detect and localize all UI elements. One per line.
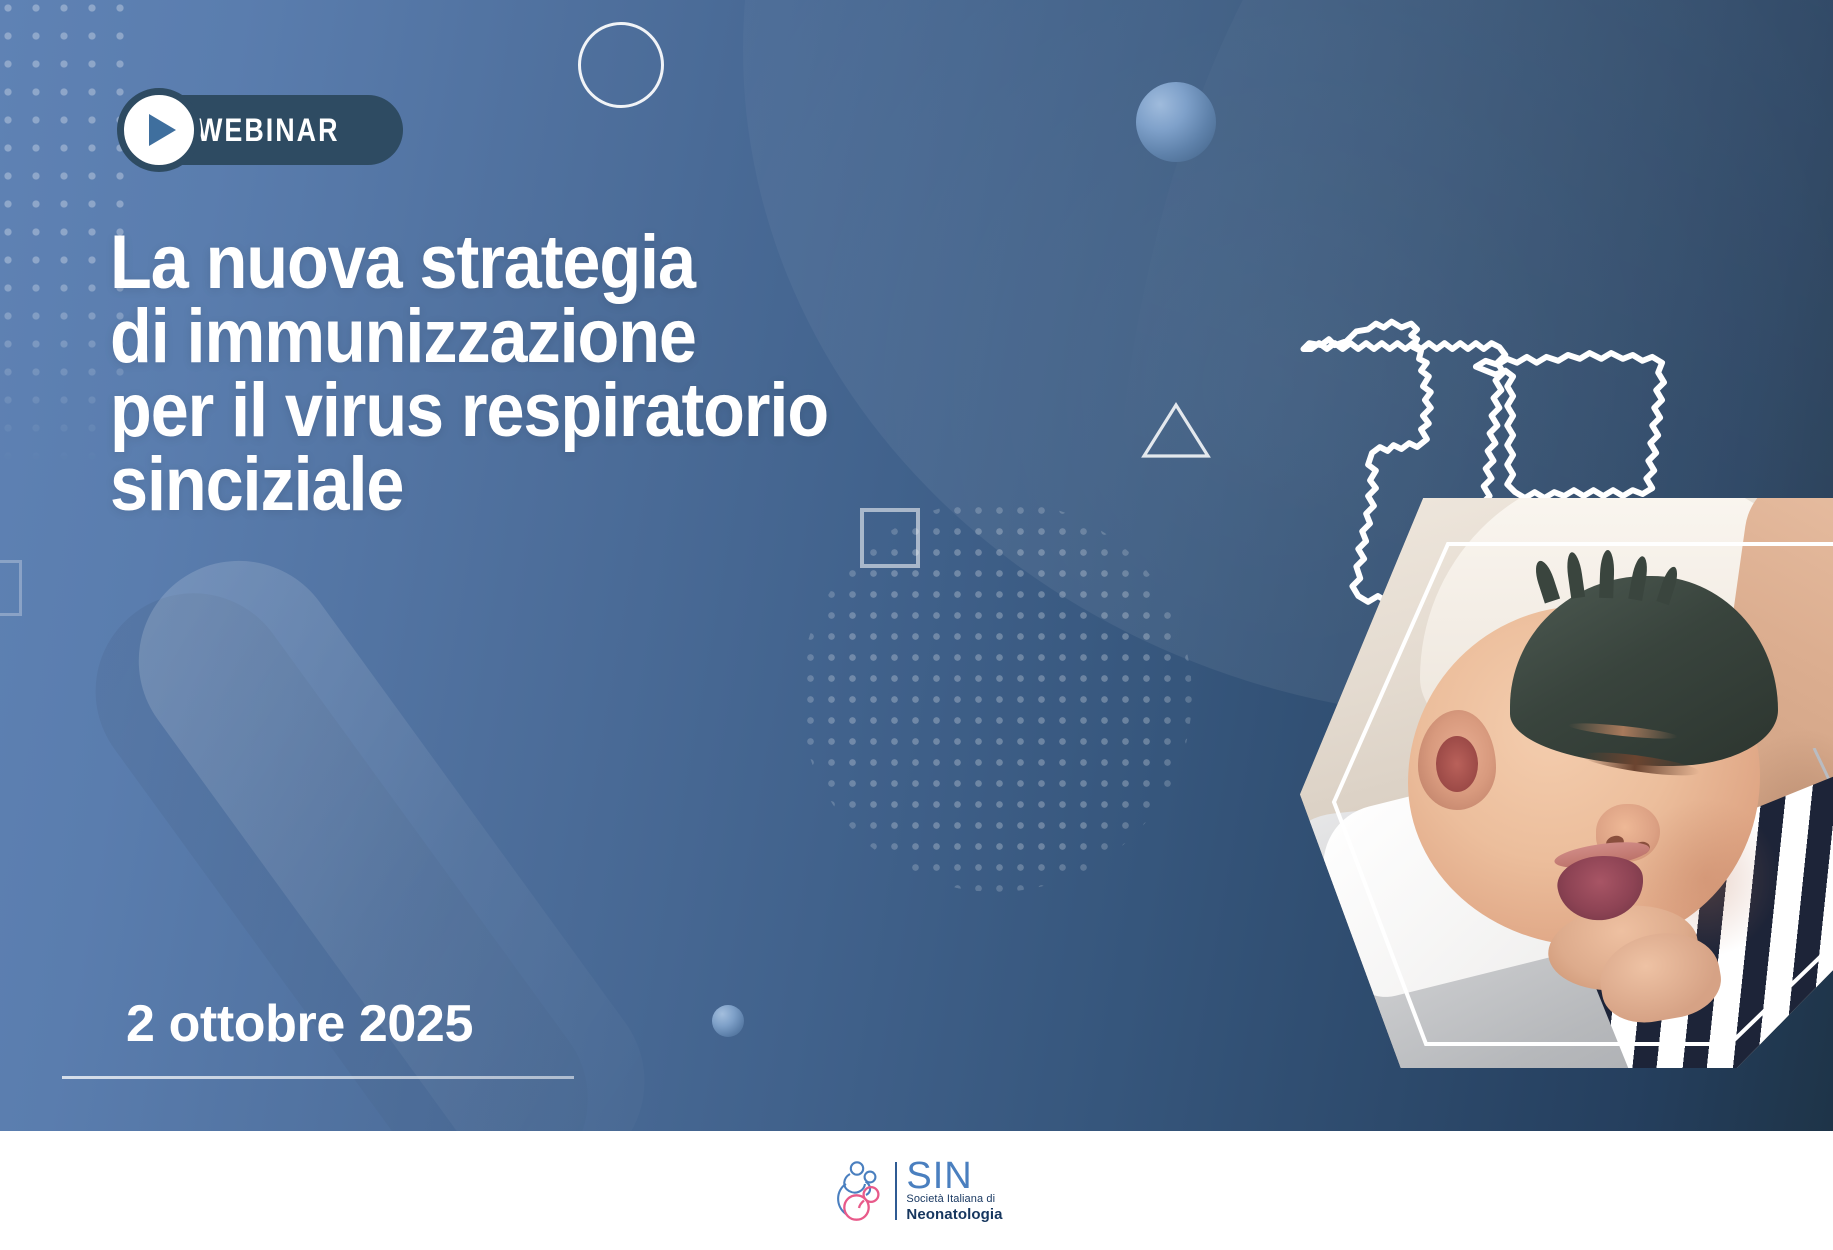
play-triangle-icon (149, 114, 176, 146)
footer-bar: SIN Società Italiana di Neonatologia (0, 1131, 1833, 1250)
dotted-circle-cluster (800, 500, 1192, 892)
circle-outline-icon (578, 22, 664, 108)
banner-hero: WEBINAR La nuova strategia di immunizzaz… (0, 0, 1833, 1131)
sin-logo-text: SIN Società Italiana di Neonatologia (906, 1159, 1002, 1223)
title-line-2: di immunizzazione (110, 300, 1010, 374)
title-line-3: per il virus respiratorio (110, 374, 1010, 448)
logo-subtitle-line1: Società Italiana di (906, 1193, 1002, 1206)
edge-square-outline-icon (0, 560, 22, 616)
sin-logo-mark-icon (830, 1160, 886, 1222)
logo-divider (895, 1162, 897, 1220)
webinar-badge-label: WEBINAR (197, 112, 340, 149)
date-underline-rule (62, 1076, 574, 1079)
event-date: 2 ottobre 2025 (126, 994, 473, 1054)
page-title: La nuova strategia di immunizzazione per… (110, 226, 1110, 522)
triangle-outline-icon (1140, 400, 1212, 460)
play-icon[interactable] (117, 88, 201, 172)
gradient-sphere-large-icon (1136, 82, 1216, 162)
webinar-banner-page: WEBINAR La nuova strategia di immunizzaz… (0, 0, 1833, 1250)
title-line-4: sinciziale (110, 448, 1010, 522)
dot-grid-pattern (0, 0, 126, 464)
title-line-1: La nuova strategia (110, 226, 1010, 300)
newborn-photo (1300, 498, 1833, 1068)
logo-acronym: SIN (906, 1159, 1002, 1193)
sin-logo[interactable]: SIN Società Italiana di Neonatologia (830, 1159, 1002, 1223)
photo-hexagon-mask (1300, 498, 1833, 1068)
gradient-sphere-small-icon (712, 1005, 744, 1037)
logo-subtitle-line2: Neonatologia (906, 1206, 1002, 1223)
